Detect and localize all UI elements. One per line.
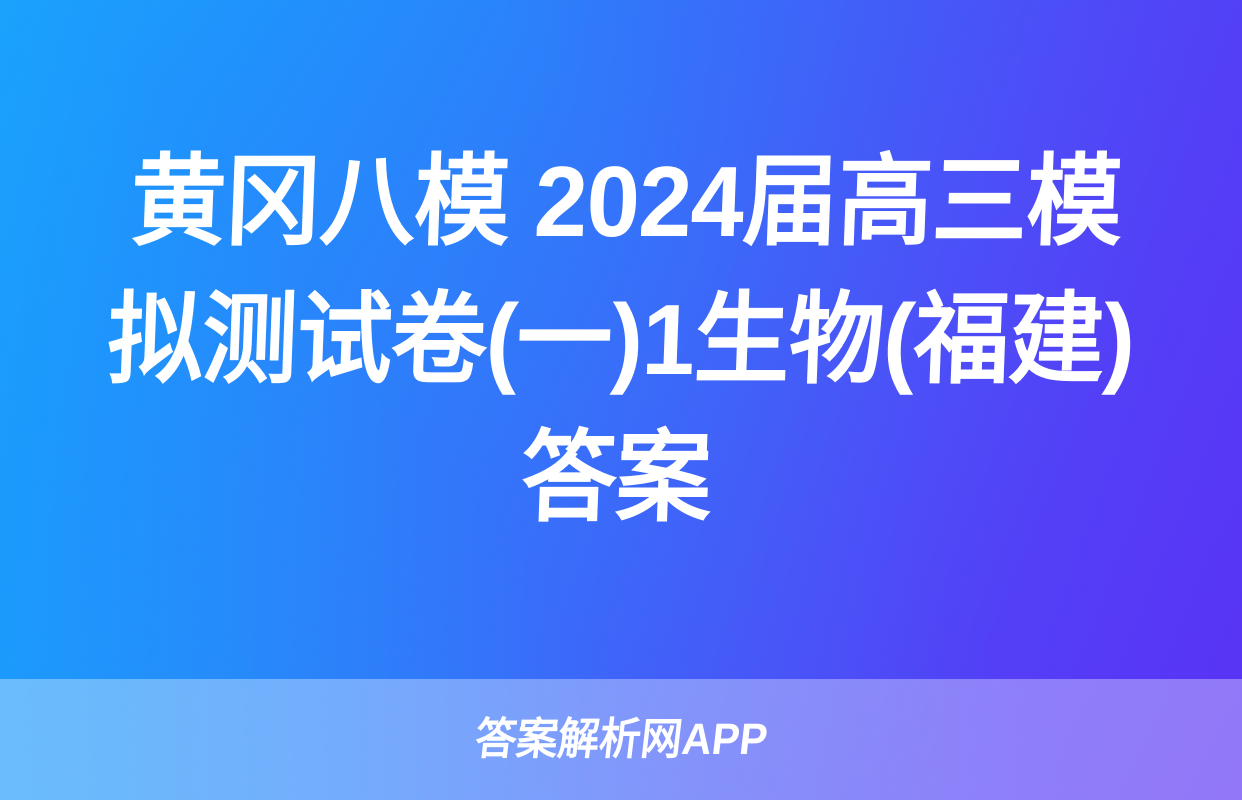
app-watermark-label: 答案解析网APP [473,718,770,762]
footer-watermark-band: 答案解析网APP [0,679,1242,800]
exam-cover-card: 黄冈八模 2024届高三模拟测试卷(一)1生物(福建)答案 答案解析网APP [0,0,1242,800]
title-block: 黄冈八模 2024届高三模拟测试卷(一)1生物(福建)答案 [0,0,1242,679]
page-title: 黄冈八模 2024届高三模拟测试卷(一)1生物(福建)答案 [87,133,1155,547]
